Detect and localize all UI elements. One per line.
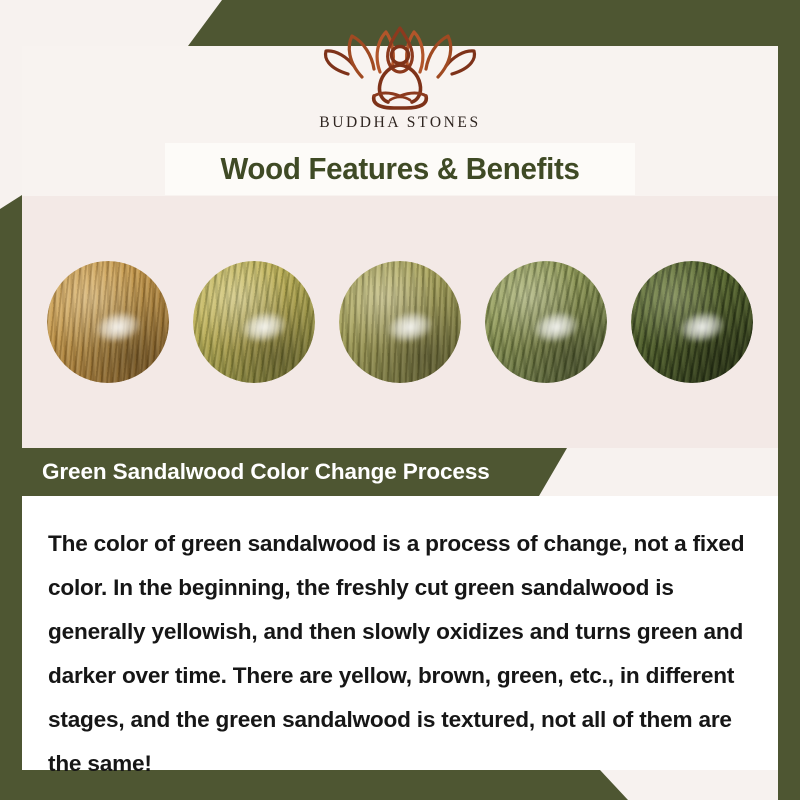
frame-right-band (778, 0, 800, 800)
section-subtitle-banner: Green Sandalwood Color Change Process (22, 448, 567, 496)
bead-showcase-panel (22, 196, 778, 448)
lotus-meditation-figure-icon (314, 22, 486, 110)
description-paragraph: The color of green sandalwood is a proce… (48, 522, 754, 786)
brand-logo: BUDDHA STONES (22, 22, 778, 132)
infographic-page: BUDDHA STONES Wood Features & Benefits (0, 0, 800, 800)
page-title-band: Wood Features & Benefits (165, 143, 635, 195)
page-title: Wood Features & Benefits (220, 151, 579, 187)
section-subtitle: Green Sandalwood Color Change Process (42, 459, 490, 485)
bead-stage-1 (47, 261, 169, 383)
bead-stage-3 (339, 261, 461, 383)
bead-stage-2 (193, 261, 315, 383)
description-inner: The color of green sandalwood is a proce… (48, 522, 754, 786)
bead-row (22, 196, 778, 448)
bead-stage-5 (631, 261, 753, 383)
frame-left-band (0, 195, 22, 800)
brand-name: BUDDHA STONES (319, 114, 480, 132)
bead-stage-4 (485, 261, 607, 383)
description-box: The color of green sandalwood is a proce… (22, 496, 778, 770)
